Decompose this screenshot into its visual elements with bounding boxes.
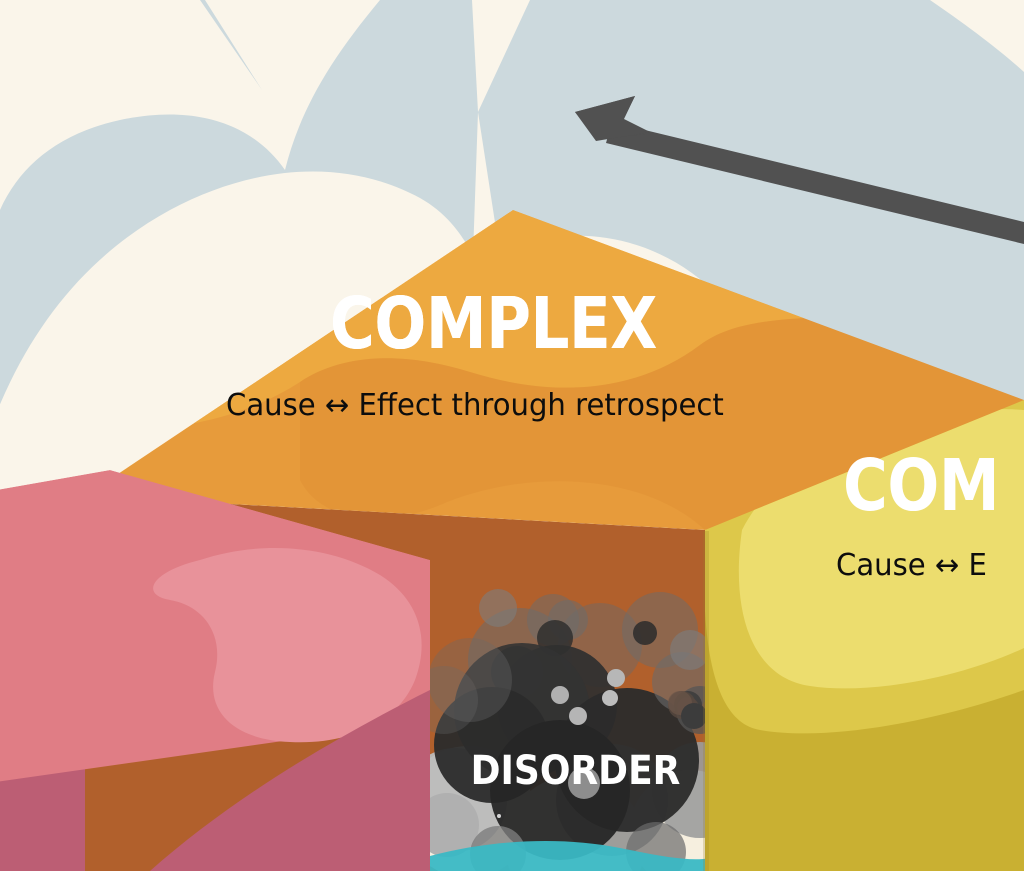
infographic-canvas: COMPLEX Cause ↔ Effect through retrospec… <box>0 0 1024 871</box>
complex-block-subtitle: Cause ↔ Effect through retrospect <box>226 388 724 423</box>
complicated-block-subtitle: Cause ↔ E <box>836 548 987 583</box>
disorder-block-title: DISORDER <box>471 748 681 794</box>
complex-block-title: COMPLEX <box>330 282 657 365</box>
blocks-layer <box>0 0 1024 871</box>
complicated-block-edge <box>703 531 709 871</box>
complicated-block-title: COM <box>843 444 999 527</box>
